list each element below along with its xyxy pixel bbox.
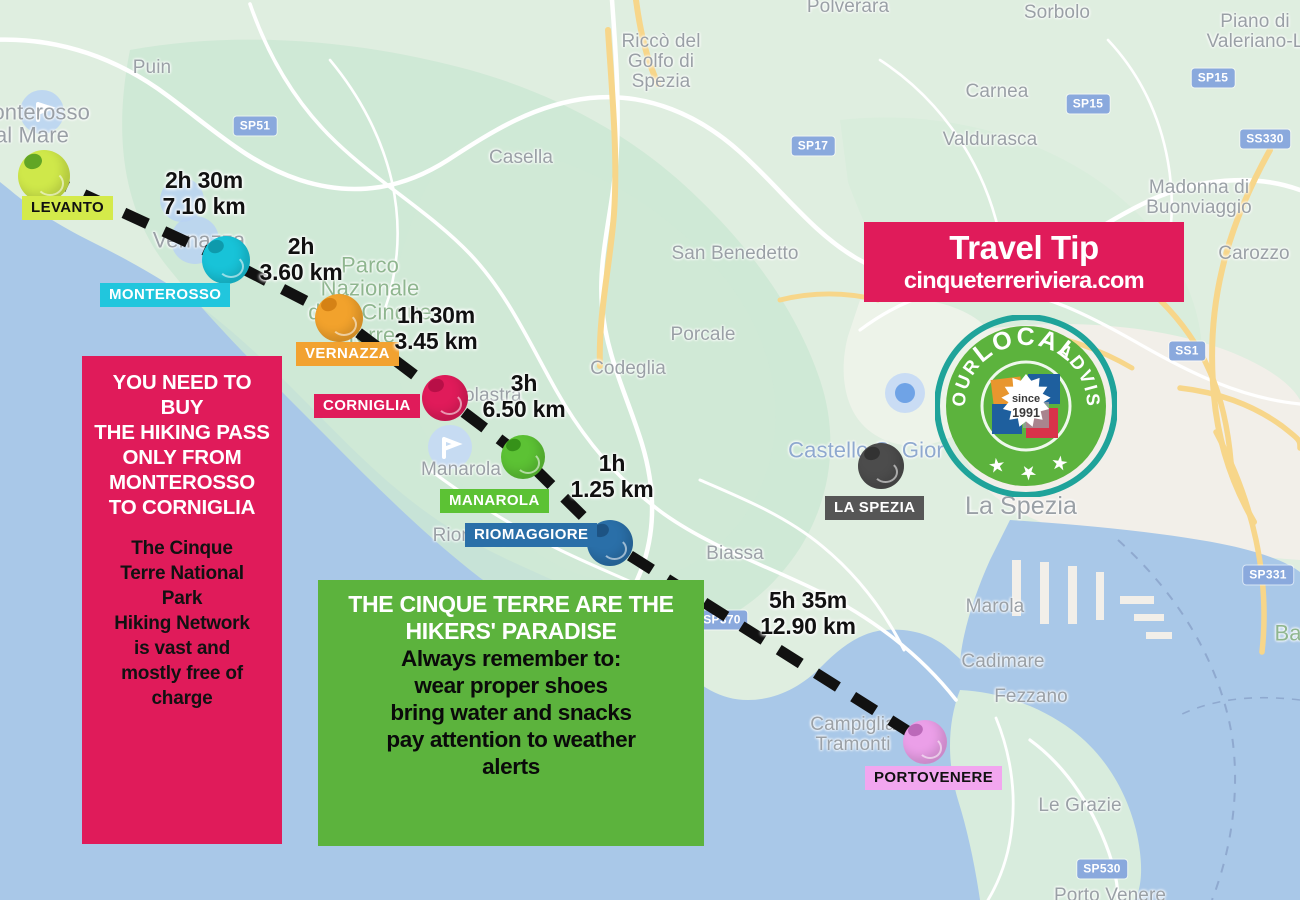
badge-since-year: 1991 — [1012, 406, 1040, 420]
segment-distance: 3.45 km — [395, 328, 478, 354]
segment-duration: 2h — [260, 233, 343, 259]
travel-tip-banner: Travel Tip cinqueterreriviera.com — [864, 222, 1184, 302]
badge-graphic: LOCAL YOUR ADVISOR ★ ★ ★ since 1991 — [935, 315, 1117, 497]
badge-since-label: since — [1012, 393, 1040, 405]
travel-tip-title: Travel Tip — [949, 231, 1098, 264]
route-segment-label: 1h 30m3.45 km — [395, 302, 478, 354]
segment-duration: 2h 30m — [163, 167, 246, 193]
hiking-pass-headline: YOU NEED TO BUYTHE HIKING PASSONLY FROMM… — [90, 370, 274, 520]
hiking-pass-body: The CinqueTerre NationalParkHiking Netwo… — [90, 536, 274, 712]
segment-distance: 12.90 km — [760, 613, 856, 639]
segment-distance: 1.25 km — [571, 476, 654, 502]
hiking-pass-notice: YOU NEED TO BUYTHE HIKING PASSONLY FROMM… — [82, 356, 282, 844]
route-segment-label: 5h 35m12.90 km — [760, 587, 856, 639]
segment-distance: 7.10 km — [163, 193, 246, 219]
segment-duration: 1h 30m — [395, 302, 478, 328]
segment-duration: 5h 35m — [760, 587, 856, 613]
segment-distance: 6.50 km — [483, 396, 566, 422]
segment-duration: 1h — [571, 450, 654, 476]
route-segment-label: 3h6.50 km — [483, 370, 566, 422]
map-canvas: PuinMonterosso al MareVernazzaCasellaRic… — [0, 0, 1300, 900]
hikers-paradise-headline: THE CINQUE TERRE ARE THEHIKERS' PARADISE — [326, 591, 696, 645]
hikers-paradise-notice: THE CINQUE TERRE ARE THEHIKERS' PARADISE… — [318, 580, 704, 846]
hikers-paradise-body: Always remember to:wear proper shoesbrin… — [326, 645, 696, 780]
route-segment-label: 2h 30m7.10 km — [163, 167, 246, 219]
segment-duration: 3h — [483, 370, 566, 396]
route-segment-label: 1h1.25 km — [571, 450, 654, 502]
your-local-advisor-badge: LOCAL YOUR ADVISOR ★ ★ ★ since 1991 — [935, 315, 1117, 497]
travel-tip-website[interactable]: cinqueterreriviera.com — [904, 269, 1144, 293]
segment-distance: 3.60 km — [260, 259, 343, 285]
route-segment-label: 2h3.60 km — [260, 233, 343, 285]
